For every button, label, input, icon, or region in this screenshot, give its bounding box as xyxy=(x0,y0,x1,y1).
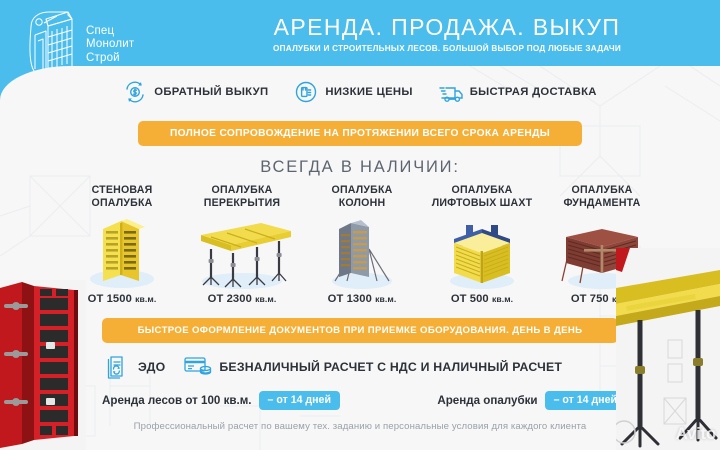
term-scaffolding[interactable]: Аренда лесов от 100 кв.м. – от 14 дней xyxy=(102,391,340,410)
product-name: ОПАЛУБКА ЛИФТОВЫХ ШАХТ xyxy=(422,184,542,210)
footer-note: Профессиональный расчет по вашему тех. з… xyxy=(0,421,720,432)
payment-cash-and-card[interactable]: БЕЗНАЛИЧНЫЙ РАСЧЕТ С НДС И НАЛИЧНЫЙ РАСЧ… xyxy=(183,354,562,380)
product-price: ОТ 2300 кв.м. xyxy=(182,293,302,305)
wall-formwork-art xyxy=(62,215,182,289)
delivery-truck-icon xyxy=(439,80,463,104)
product-price-value: ОТ 2300 xyxy=(208,293,252,305)
term-badge: – от 14 дней xyxy=(545,391,626,410)
product-price-value: ОТ 1500 xyxy=(88,293,132,305)
product-price-value: ОТ 750 xyxy=(571,293,609,305)
product-price: ОТ 500 кв.м. xyxy=(422,293,542,305)
brand-name-line-2: Монолит xyxy=(86,38,134,52)
product-card[interactable]: ОПАЛУБКА ПЕРЕКРЫТИЯ xyxy=(182,184,302,305)
feature-low-prices[interactable]: НИЗКИЕ ЦЕНЫ xyxy=(294,80,412,104)
documents-banner: БЫСТРОЕ ОФОРМЛЕНИЕ ДОКУМЕНТОВ ПРИ ПРИЕМК… xyxy=(102,318,618,343)
card-and-cash-icon xyxy=(183,354,211,380)
brand-name-line-1: Спец xyxy=(86,25,134,39)
payment-label: БЕЗНАЛИЧНЫЙ РАСЧЕТ С НДС И НАЛИЧНЫЙ РАСЧ… xyxy=(219,360,562,374)
product-price-unit: кв.м. xyxy=(255,294,276,304)
product-price-unit: кв.м. xyxy=(135,294,156,304)
feature-label: БЫСТРАЯ ДОСТАВКА xyxy=(470,86,597,98)
product-price-value: ОТ 500 xyxy=(451,293,489,305)
buyback-arrows-dollar-icon xyxy=(123,80,147,104)
term-label: Аренда опалубки xyxy=(437,394,537,407)
product-card[interactable]: ОПАЛУБКА КОЛОНН xyxy=(302,184,422,305)
product-price-unit: кв.м. xyxy=(492,294,513,304)
page-title: АРЕНДА. ПРОДАЖА. ВЫКУП xyxy=(180,14,714,41)
terms-row: Аренда лесов от 100 кв.м. – от 14 дней А… xyxy=(102,391,626,410)
features-row: ОБРАТНЫЙ ВЫКУП НИЗКИЕ ЦЕНЫ xyxy=(0,80,720,104)
payment-label: ЭДО xyxy=(138,360,165,374)
product-name: ОПАЛУБКА КОЛОНН xyxy=(302,184,422,210)
stock-section-title: ВСЕГДА В НАЛИЧИИ: xyxy=(0,158,720,177)
product-name: СТЕНОВАЯ ОПАЛУБКА xyxy=(62,184,182,210)
header-titles: АРЕНДА. ПРОДАЖА. ВЫКУП ОПАЛУБКИ И СТРОИТ… xyxy=(180,14,714,55)
yellow-slab-formwork-beams-props-photo: Avito xyxy=(616,248,720,450)
brand-name-line-3: Строй xyxy=(86,52,134,66)
payments-row: ЭДО БЕЗНАЛИЧНЫЙ РАСЧЕТ С НДС И НАЛИЧНЫЙ … xyxy=(102,354,618,380)
product-card[interactable]: ОПАЛУБКА ЛИФТОВЫХ ШАХТ xyxy=(422,184,542,305)
column-formwork-art xyxy=(302,215,422,289)
low-price-tag-icon xyxy=(294,80,318,104)
term-label: Аренда лесов от 100 кв.м. xyxy=(102,394,252,407)
content-panel: ОБРАТНЫЙ ВЫКУП НИЗКИЕ ЦЕНЫ xyxy=(0,66,720,450)
edo-document-exchange-icon xyxy=(102,354,130,380)
term-formwork[interactable]: Аренда опалубки – от 14 дней xyxy=(437,391,626,410)
term-badge: – от 14 дней xyxy=(259,391,340,410)
product-name: ОПАЛУБКА ФУНДАМЕНТА xyxy=(542,184,662,210)
page-subtitle: ОПАЛУБКИ И СТРОИТЕЛЬНЫХ ЛЕСОВ. БОЛЬШОЙ В… xyxy=(180,43,714,55)
product-price-unit: кв.м. xyxy=(375,294,396,304)
liftshaft-formwork-art xyxy=(422,215,542,289)
product-price: ОТ 1300 кв.м. xyxy=(302,293,422,305)
support-banner: ПОЛНОЕ СОПРОВОЖДЕНИЕ НА ПРОТЯЖЕНИИ ВСЕГО… xyxy=(138,121,582,146)
product-name: ОПАЛУБКА ПЕРЕКРЫТИЯ xyxy=(182,184,302,210)
payment-edo[interactable]: ЭДО xyxy=(102,354,165,380)
products-row: СТЕНОВАЯ ОПАЛУБКА xyxy=(62,184,662,305)
feature-buyback[interactable]: ОБРАТНЫЙ ВЫКУП xyxy=(123,80,268,104)
product-price-value: ОТ 1300 xyxy=(328,293,372,305)
feature-label: НИЗКИЕ ЦЕНЫ xyxy=(325,86,412,98)
slab-formwork-art xyxy=(182,215,302,289)
red-wall-formwork-panel-photo xyxy=(0,280,86,450)
promo-banner-root: Спец Монолит Строй АРЕНДА. ПРОДАЖА. ВЫКУ… xyxy=(0,0,720,450)
brand-name: Спец Монолит Строй xyxy=(86,25,134,66)
feature-fast-delivery[interactable]: БЫСТРАЯ ДОСТАВКА xyxy=(439,80,597,104)
feature-label: ОБРАТНЫЙ ВЫКУП xyxy=(154,86,268,98)
